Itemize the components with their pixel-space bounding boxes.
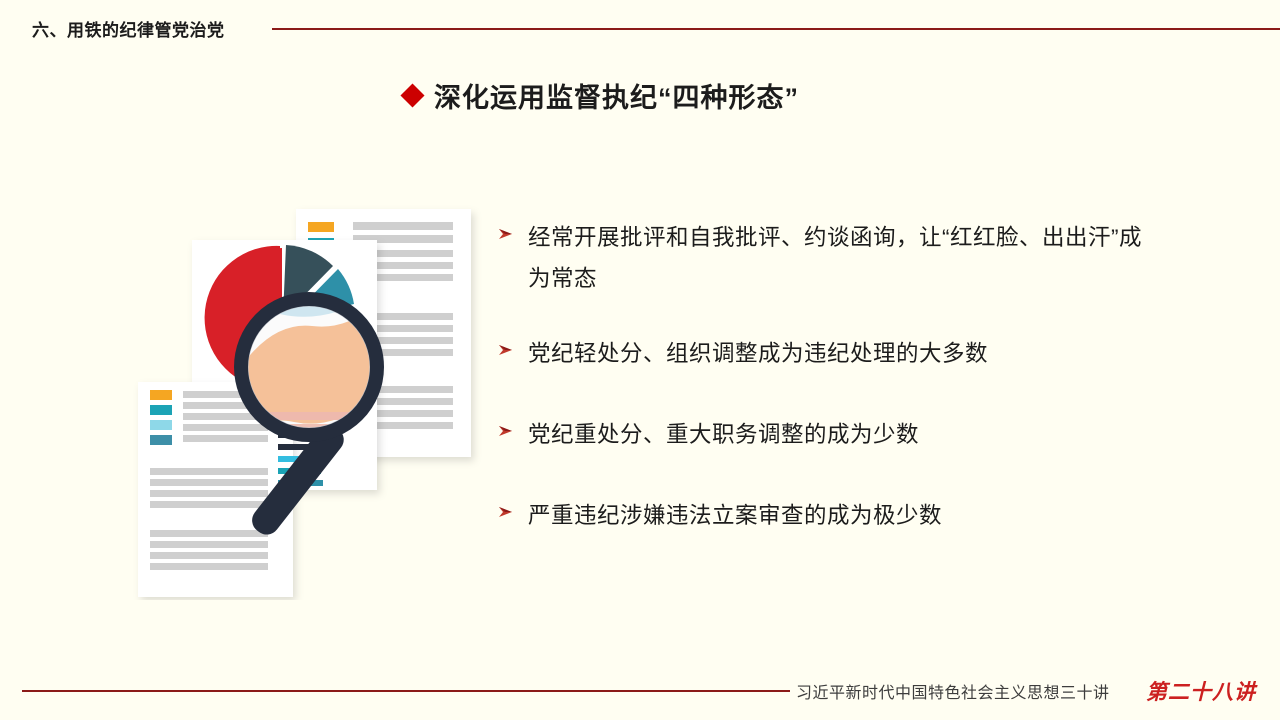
list-item-label: 经常开展批评和自我批评、约谈函询，让“红红脸、出出汗”成为常态 <box>528 218 1154 300</box>
list-item-label: 严重违纪涉嫌违法立案审查的成为极少数 <box>528 496 942 537</box>
footer-lecture-number: 第二十八讲 <box>1146 676 1256 706</box>
bullet-list: 经常开展批评和自我批评、约谈函询，让“红红脸、出出汗”成为常态 党纪轻处分、组织… <box>498 218 1158 537</box>
diamond-icon <box>400 83 424 107</box>
arrow-bullet-icon <box>498 496 528 519</box>
header-divider <box>272 28 1280 30</box>
list-item-label: 党纪轻处分、组织调整成为违纪处理的大多数 <box>528 334 988 375</box>
section-title: 六、用铁的纪律管党治党 <box>32 16 225 41</box>
page-title: 深化运用监督执纪“四种形态” <box>434 76 799 115</box>
arrow-bullet-icon <box>498 218 528 241</box>
documents-pie-chart-magnifier-illustration <box>128 200 488 600</box>
arrow-bullet-icon <box>498 415 528 438</box>
slide-root: 六、用铁的纪律管党治党 深化运用监督执纪“四种形态” <box>0 0 1280 720</box>
slide-header: 六、用铁的纪律管党治党 <box>0 0 1280 54</box>
list-item: 党纪重处分、重大职务调整的成为少数 <box>498 415 1158 456</box>
footer-book-title: 习近平新时代中国特色社会主义思想三十讲 <box>796 679 1110 703</box>
list-item: 经常开展批评和自我批评、约谈函询，让“红红脸、出出汗”成为常态 <box>498 218 1158 300</box>
arrow-bullet-icon <box>498 334 528 357</box>
footer-divider <box>22 690 790 692</box>
slide-title-row: 深化运用监督执纪“四种形态” <box>404 76 799 115</box>
list-item: 党纪轻处分、组织调整成为违纪处理的大多数 <box>498 334 1158 375</box>
list-item: 严重违纪涉嫌违法立案审查的成为极少数 <box>498 496 1158 537</box>
list-item-label: 党纪重处分、重大职务调整的成为少数 <box>528 415 919 456</box>
